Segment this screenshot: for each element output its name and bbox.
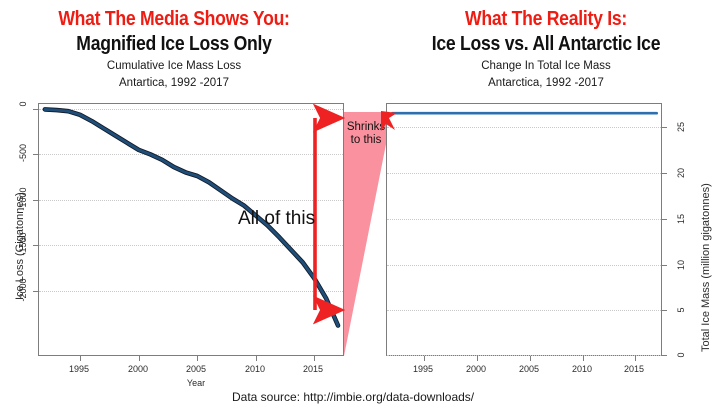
left-ytick-0	[33, 109, 38, 110]
right-ytick-label-25: 25	[676, 122, 686, 132]
right-panel-subtitle-2: Antarctica, 1992 -2017	[372, 77, 720, 89]
all-of-this-label: All of this	[238, 208, 315, 230]
left-ytick--1500	[33, 245, 38, 246]
left-ytick--500	[33, 154, 38, 155]
right-ytick-label-0: 0	[676, 352, 686, 357]
left-ytick-label-0: 0	[18, 101, 28, 106]
left-xtick-label-2010: 2010	[245, 364, 265, 374]
right-xtick-label-2015: 2015	[624, 364, 644, 374]
left-panel-title-red: What The Media Shows You:	[21, 8, 327, 31]
right-chart-plot-area	[386, 103, 662, 356]
shrinks-line-1: Shrinks	[347, 121, 385, 133]
shrink-wedge	[344, 112, 391, 356]
right-panel-title-red: What The Reality Is:	[393, 8, 699, 31]
right-panel-subtitle-1: Change In Total Ice Mass	[372, 60, 720, 72]
left-ytick--1000	[33, 200, 38, 201]
left-xtick-label-2005: 2005	[186, 364, 206, 374]
left-panel-subtitle-1: Cumulative Ice Mass Loss	[0, 60, 348, 72]
right-ytick-label-5: 5	[676, 307, 686, 312]
right-chart-series-svg	[387, 104, 663, 357]
right-ytick-label-15: 15	[676, 214, 686, 224]
shrinks-to-this-annotation: Shrinks to this	[341, 121, 391, 147]
left-xtick-label-2000: 2000	[128, 364, 148, 374]
left-ytick-label--500: -500	[18, 144, 28, 162]
right-ytick-label-10: 10	[676, 260, 686, 270]
left-panel-subtitle-2: Antartica, 1992 -2017	[0, 77, 348, 89]
left-chart-x-axis-title: Year	[187, 378, 205, 388]
right-xtick-label-1995: 1995	[413, 364, 433, 374]
left-panel-title-black: Magnified Ice Loss Only	[21, 33, 327, 56]
right-panel-title-black: Ice Loss vs. All Antarctic Ice	[393, 33, 699, 56]
right-xtick-label-2010: 2010	[572, 364, 592, 374]
all-of-this-arrow-svg	[39, 104, 345, 357]
right-ytick-label-20: 20	[676, 168, 686, 178]
shrinks-line-2: to this	[351, 134, 382, 146]
right-chart-y-axis-title: Total Ice Mass (million gigatonnes)	[700, 183, 712, 352]
right-xtick-label-2000: 2000	[466, 364, 486, 374]
left-chart-y-axis-title: Ice Loss (Gigatonnes)	[14, 192, 26, 300]
left-xtick-label-2015: 2015	[303, 364, 323, 374]
left-xtick-label-1995: 1995	[69, 364, 89, 374]
left-ytick--2000	[33, 291, 38, 292]
right-xtick-label-2005: 2005	[519, 364, 539, 374]
data-source-text: Data source: http://imbie.org/data-downl…	[232, 390, 474, 404]
infographic-root: What The Media Shows You: Magnified Ice …	[0, 0, 720, 410]
